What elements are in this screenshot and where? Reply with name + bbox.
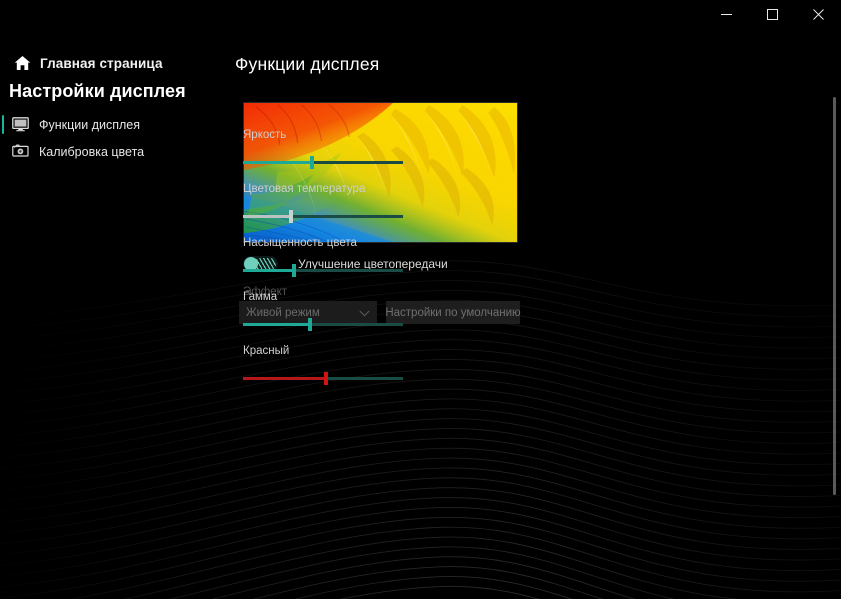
slider-block: Гамма — [243, 291, 543, 331]
main-content: Функции дисплея — [225, 29, 841, 599]
color-calibration-icon — [8, 144, 32, 159]
sidebar-title: Настройки дисплея — [9, 81, 186, 102]
slider-fill — [243, 377, 326, 380]
title-bar — [0, 0, 841, 29]
slider-fill — [243, 215, 291, 218]
slider-thumb[interactable] — [308, 318, 312, 331]
slider-thumb[interactable] — [324, 372, 328, 385]
home-icon — [9, 55, 35, 71]
slider-label: Красный — [243, 345, 543, 357]
slider-block: Яркость — [243, 129, 543, 169]
slider-thumb[interactable] — [310, 156, 314, 169]
slider-control[interactable] — [243, 263, 403, 277]
sidebar-item-label: Калибровка цвета — [39, 145, 144, 159]
slider-block: Красный — [243, 345, 543, 385]
app-window: Главная страница Настройки дисплея Функц… — [0, 0, 841, 599]
slider-fill — [243, 323, 310, 326]
active-indicator — [2, 142, 4, 161]
active-indicator — [2, 115, 4, 134]
slider-label: Яркость — [243, 129, 543, 141]
slider-thumb[interactable] — [292, 264, 296, 277]
vertical-scrollbar[interactable] — [830, 92, 839, 507]
slider-control[interactable] — [243, 209, 403, 223]
slider-block: Цветовая температура — [243, 183, 543, 223]
home-nav-item[interactable]: Главная страница — [0, 48, 225, 78]
slider-label: Гамма — [243, 291, 543, 303]
slider-thumb[interactable] — [289, 210, 293, 223]
home-nav-label: Главная страница — [40, 56, 163, 71]
minimize-button[interactable] — [703, 0, 749, 29]
slider-block: Насыщенность цвета — [243, 237, 543, 277]
slider-label: Насыщенность цвета — [243, 237, 543, 249]
maximize-button[interactable] — [749, 0, 795, 29]
close-button[interactable] — [795, 0, 841, 29]
page-title: Функции дисплея — [235, 54, 379, 75]
slider-fill — [243, 161, 312, 164]
monitor-icon — [8, 117, 32, 132]
slider-control[interactable] — [243, 317, 403, 331]
sidebar-item-label: Функции дисплея — [39, 118, 140, 132]
sidebar-item-display-functions[interactable]: Функции дисплея — [0, 111, 225, 138]
slider-fill — [243, 269, 294, 272]
sidebar-item-color-calibration[interactable]: Калибровка цвета — [0, 138, 225, 165]
slider-control[interactable] — [243, 371, 403, 385]
sidebar: Главная страница Настройки дисплея Функц… — [0, 29, 225, 599]
scrollbar-thumb[interactable] — [833, 97, 836, 495]
slider-label: Цветовая температура — [243, 183, 543, 195]
slider-control[interactable] — [243, 155, 403, 169]
